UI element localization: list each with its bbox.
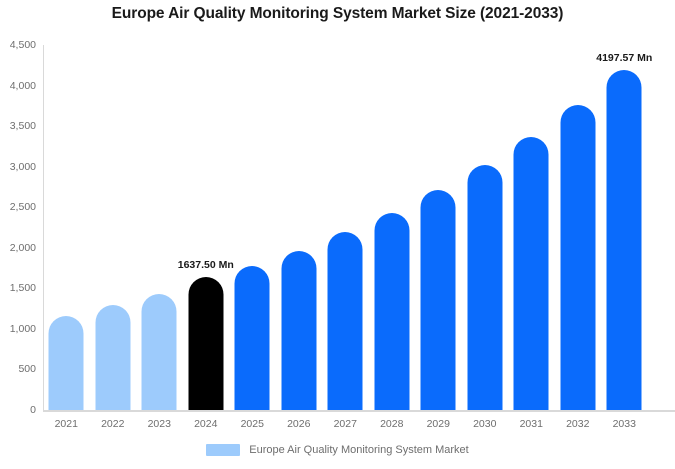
x-axis-tick-label-2025: 2025	[229, 418, 276, 430]
y-axis-tick-label: 3,500	[0, 120, 36, 132]
bar-2033[interactable]	[607, 70, 642, 410]
bar-slot-2030	[462, 45, 509, 410]
bar-slot-2026	[276, 45, 323, 410]
x-axis-baseline	[43, 410, 675, 412]
y-axis-tick-label: 2,500	[0, 201, 36, 213]
x-axis-tick-label-2022: 2022	[90, 418, 137, 430]
y-axis-tick-label: 4,500	[0, 39, 36, 51]
chart-container: Europe Air Quality Monitoring System Mar…	[0, 0, 675, 469]
x-axis-tick-label-2032: 2032	[555, 418, 602, 430]
y-axis: 4,5004,0003,5003,0002,5002,0001,5001,000…	[0, 45, 36, 410]
x-axis-tick-label-2028: 2028	[369, 418, 416, 430]
bar-value-label-2024: 1637.50 Mn	[178, 259, 234, 271]
bar-2022[interactable]	[95, 305, 130, 410]
bar-slot-2028	[369, 45, 416, 410]
bar-slot-2029	[415, 45, 462, 410]
bar-slot-2022	[90, 45, 137, 410]
bar-slot-2025	[229, 45, 276, 410]
bar-slot-2021	[43, 45, 90, 410]
bar-2023[interactable]	[142, 294, 177, 410]
bar-2024[interactable]	[188, 277, 223, 410]
bar-2032[interactable]	[560, 105, 595, 410]
bar-2030[interactable]	[467, 165, 502, 410]
bar-2026[interactable]	[281, 251, 316, 410]
bar-slot-2024	[183, 45, 230, 410]
x-axis-tick-label-2031: 2031	[508, 418, 555, 430]
x-axis-tick-label-2021: 2021	[43, 418, 90, 430]
legend-swatch-icon	[206, 444, 240, 456]
x-axis-tick-label-2027: 2027	[322, 418, 369, 430]
x-axis: 2021202220232024202520262027202820292030…	[43, 414, 675, 436]
bar-slot-2023	[136, 45, 183, 410]
bar-2027[interactable]	[328, 232, 363, 410]
bar-2031[interactable]	[514, 137, 549, 410]
y-axis-tick-label: 3,000	[0, 161, 36, 173]
bar-slot-2032	[555, 45, 602, 410]
x-axis-tick-label-2026: 2026	[276, 418, 323, 430]
bar-2029[interactable]	[421, 190, 456, 410]
y-axis-tick-label: 4,000	[0, 80, 36, 92]
bar-2025[interactable]	[235, 266, 270, 410]
x-axis-tick-label-2024: 2024	[183, 418, 230, 430]
y-axis-tick-label: 2,000	[0, 242, 36, 254]
bar-value-label-2033: 4197.57 Mn	[596, 52, 652, 64]
bar-2028[interactable]	[374, 213, 409, 411]
bar-slot-2031	[508, 45, 555, 410]
bar-slot-2033	[601, 45, 648, 410]
chart-legend: Europe Air Quality Monitoring System Mar…	[0, 444, 675, 456]
x-axis-tick-label-2033: 2033	[601, 418, 648, 430]
chart-title: Europe Air Quality Monitoring System Mar…	[0, 5, 675, 23]
legend-label: Europe Air Quality Monitoring System Mar…	[249, 444, 468, 456]
bar-slot-2027	[322, 45, 369, 410]
y-axis-tick-label: 1,500	[0, 282, 36, 294]
bars-layer: 1637.50 Mn4197.57 Mn	[43, 45, 675, 410]
x-axis-tick-label-2030: 2030	[462, 418, 509, 430]
x-axis-tick-label-2029: 2029	[415, 418, 462, 430]
bar-2021[interactable]	[49, 316, 84, 410]
y-axis-tick-label: 500	[0, 363, 36, 375]
x-axis-tick-label-2023: 2023	[136, 418, 183, 430]
y-axis-tick-label: 1,000	[0, 323, 36, 335]
y-axis-tick-label: 0	[0, 404, 36, 416]
